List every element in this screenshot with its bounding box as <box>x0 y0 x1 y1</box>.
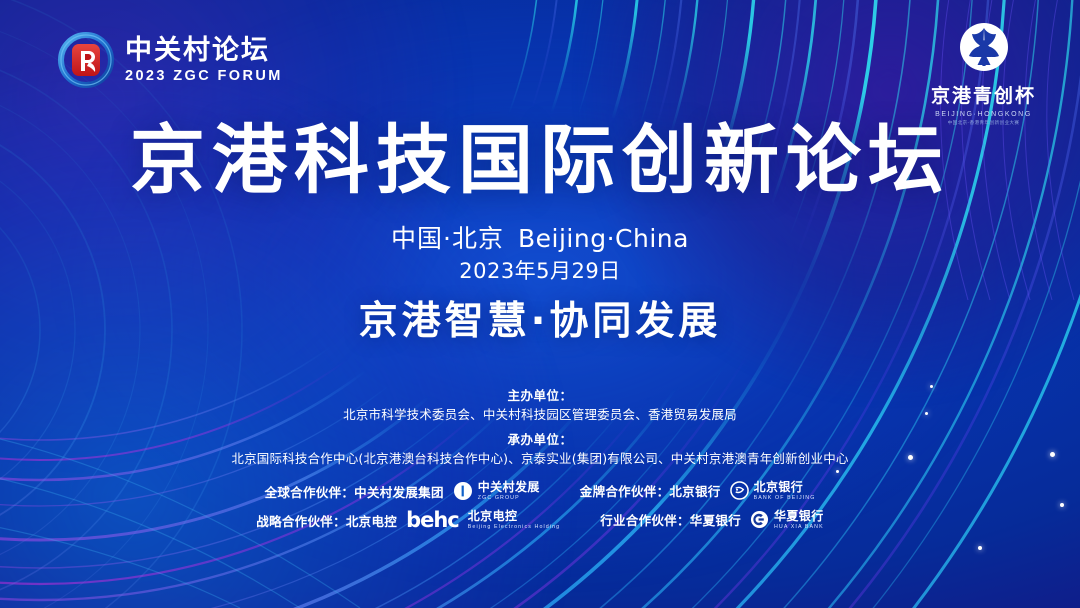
partner-gold: 金牌合作伙伴：北京银行 北京银行 BANK OF BEIJING <box>580 481 816 501</box>
poster-slogan: 京港智慧·协同发展 <box>0 290 1080 346</box>
behc-name-cn: 北京电控 <box>468 510 560 522</box>
huaxia-bank-name-en: HUA XIA BANK <box>774 525 824 530</box>
partner-gold-label: 金牌合作伙伴：北京银行 <box>580 481 721 500</box>
partner-strategic: 战略合作伙伴：北京电控 behc 北京电控 Beijing Electronic… <box>256 508 560 532</box>
bank-of-beijing-mark-icon <box>730 481 749 500</box>
coorganizer-label: 承办单位： <box>0 430 1080 449</box>
behc-wordmark: behc <box>406 508 459 532</box>
bank-of-beijing-name-cn: 北京银行 <box>754 481 816 493</box>
partner-global: 全球合作伙伴：中关村发展集团 中关村发展 ZGC GROUP <box>265 481 540 501</box>
host-value: 北京市科学技术委员会、中关村科技园区管理委员会、香港贸易发展局 <box>0 405 1080 424</box>
sparkle-dot <box>978 546 982 550</box>
bank-of-beijing-name-en: BANK OF BEIJING <box>754 496 816 501</box>
huaxia-bank-mark-icon <box>750 510 769 529</box>
poster-date: 2023年5月29日 <box>0 255 1080 285</box>
partner-block: 全球合作伙伴：中关村发展集团 中关村发展 ZGC GROUP 金牌合作伙伴：北京… <box>0 481 1080 532</box>
poster-location-line: 中国·北京Beijing·China <box>0 219 1080 255</box>
behc-logo: behc 北京电控 Beijing Electronics Holding <box>406 508 560 532</box>
partner-row: 全球合作伙伴：中关村发展集团 中关村发展 ZGC GROUP 金牌合作伙伴：北京… <box>265 481 816 501</box>
zgc-forum-title-en: 2023 ZGC FORUM <box>125 69 283 84</box>
beijing-hongkong-cup-logo: 京港青创杯 BEIJING·HONGKONG 中国北京-香港青年创新创业大赛 <box>921 18 1046 126</box>
partner-strategic-label: 战略合作伙伴：北京电控 <box>256 511 397 530</box>
partner-row: 战略合作伙伴：北京电控 behc 北京电控 Beijing Electronic… <box>256 508 823 532</box>
bauhinia-circle-icon <box>955 18 1013 76</box>
organizer-block: 主办单位： 北京市科学技术委员会、中关村科技园区管理委员会、香港贸易发展局 承办… <box>0 386 1080 474</box>
location-en: Beijing·China <box>518 224 689 253</box>
zgc-group-mark-icon <box>453 481 473 501</box>
zgc-group-name-en: ZGC GROUP <box>478 496 540 501</box>
hk-cup-title-cn: 京港青创杯 <box>921 81 1046 108</box>
zgc-forum-logo: 中关村论坛 2023 ZGC FORUM <box>58 32 283 88</box>
event-poster: 中关村论坛 2023 ZGC FORUM 京港青创杯 BEIJING·HONGK… <box>0 0 1080 608</box>
bank-of-beijing-logo: 北京银行 BANK OF BEIJING <box>730 481 816 501</box>
location-cn: 中国·北京 <box>391 224 504 253</box>
partner-global-label: 全球合作伙伴：中关村发展集团 <box>265 482 444 501</box>
zgc-forum-title-cn: 中关村论坛 <box>125 37 283 64</box>
zgc-group-name-cn: 中关村发展 <box>478 481 540 493</box>
partner-industry: 行业合作伙伴：华夏银行 华夏银行 HUA XIA BANK <box>600 510 824 530</box>
zgc-group-logo: 中关村发展 ZGC GROUP <box>453 481 540 501</box>
huaxia-bank-name-cn: 华夏银行 <box>774 510 824 522</box>
partner-industry-label: 行业合作伙伴：华夏银行 <box>600 510 741 529</box>
zgc-forum-mark-icon <box>58 32 114 88</box>
host-label: 主办单位： <box>0 386 1080 405</box>
poster-main-title: 京港科技国际创新论坛 <box>0 123 1080 198</box>
behc-name-en: Beijing Electronics Holding <box>468 525 560 530</box>
huaxia-bank-logo: 华夏银行 HUA XIA BANK <box>750 510 824 530</box>
coorganizer-value: 北京国际科技合作中心(北京港澳台科技合作中心)、京泰实业(集团)有限公司、中关村… <box>0 449 1080 468</box>
